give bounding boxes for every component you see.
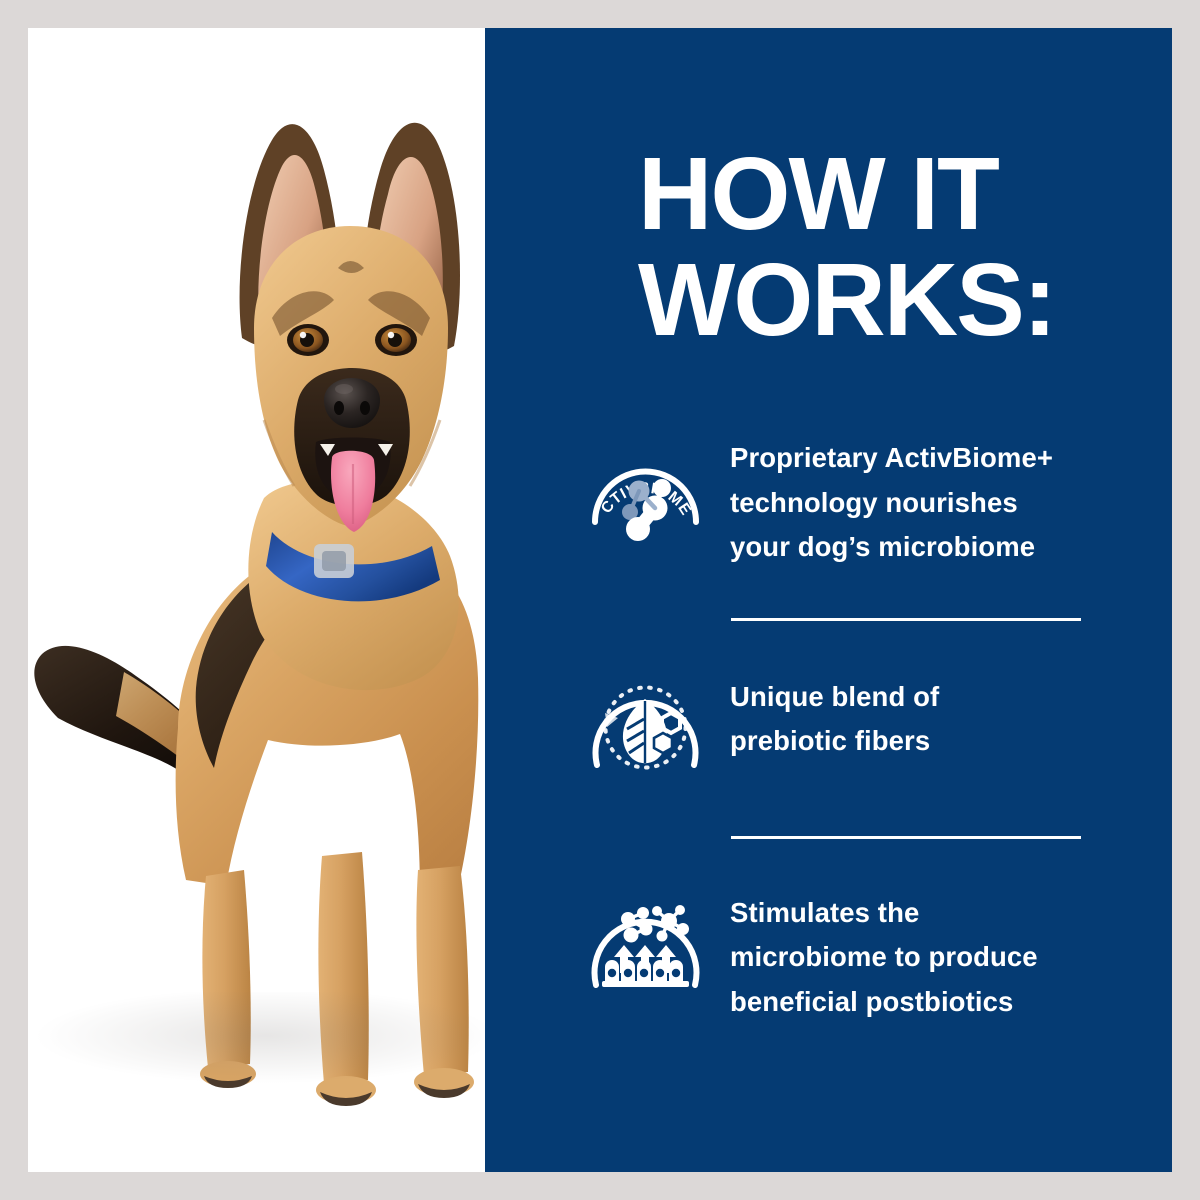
info-panel: HOW IT WORKS: ACTIVBIOME+ — [485, 28, 1172, 1172]
dog-photo-pane — [28, 28, 485, 1172]
feature-line: your dog’s microbiome — [730, 525, 1053, 570]
feature-text-postbiotics: Stimulates the microbiome to produce ben… — [730, 881, 1038, 1025]
feature-line: Stimulates the — [730, 891, 1038, 936]
feature-item-activbiome: ACTIVBIOME+ — [583, 426, 1143, 570]
microbiome-postbiotic-icon — [583, 881, 708, 1006]
poster-canvas: HOW IT WORKS: ACTIVBIOME+ — [28, 28, 1172, 1172]
headline-line-1: HOW IT — [638, 136, 998, 251]
feature-text-activbiome: Proprietary ActivBiome+ technology nouri… — [730, 426, 1053, 570]
leaf-prebiotic-fiber-icon — [583, 665, 708, 790]
feature-line: beneficial postbiotics — [730, 980, 1038, 1025]
page-title: HOW IT WORKS: — [638, 141, 1138, 353]
feature-item-postbiotics: Stimulates the microbiome to produce ben… — [583, 881, 1143, 1025]
feature-line: prebiotic fibers — [730, 719, 939, 764]
feature-list: ACTIVBIOME+ — [583, 426, 1143, 1024]
feature-item-prebiotic-fibers: Unique blend of prebiotic fibers — [583, 665, 1143, 790]
feature-text-prebiotic-fibers: Unique blend of prebiotic fibers — [730, 665, 939, 764]
feature-line: Unique blend of — [730, 675, 939, 720]
floor-shadow — [28, 992, 485, 1102]
feature-line: technology nourishes — [730, 481, 1053, 526]
feature-line: microbiome to produce — [730, 935, 1038, 980]
activbiome-plus-logo-icon: ACTIVBIOME+ — [583, 426, 708, 551]
feature-line: Proprietary ActivBiome+ — [730, 436, 1053, 481]
poster-root: HOW IT WORKS: ACTIVBIOME+ — [0, 0, 1200, 1200]
headline-line-2: WORKS: — [638, 247, 1138, 353]
